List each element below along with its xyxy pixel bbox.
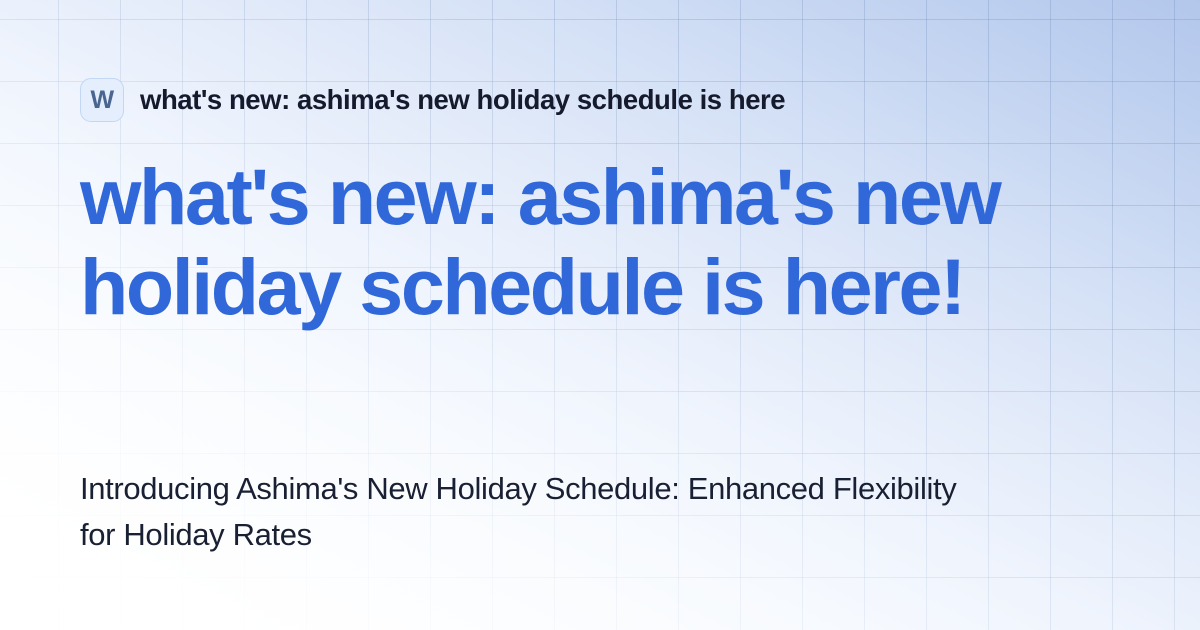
open-graph-card: W what's new: ashima's new holiday sched… [0,0,1200,630]
eyebrow-row: W what's new: ashima's new holiday sched… [80,78,785,122]
page-subtitle: Introducing Ashima's New Holiday Schedul… [80,466,980,558]
card-content: W what's new: ashima's new holiday sched… [0,0,1200,630]
page-title: what's new: ashima's new holiday schedul… [80,152,1080,332]
w-letter-badge-icon: W [80,78,124,122]
eyebrow-label: what's new: ashima's new holiday schedul… [140,85,785,115]
